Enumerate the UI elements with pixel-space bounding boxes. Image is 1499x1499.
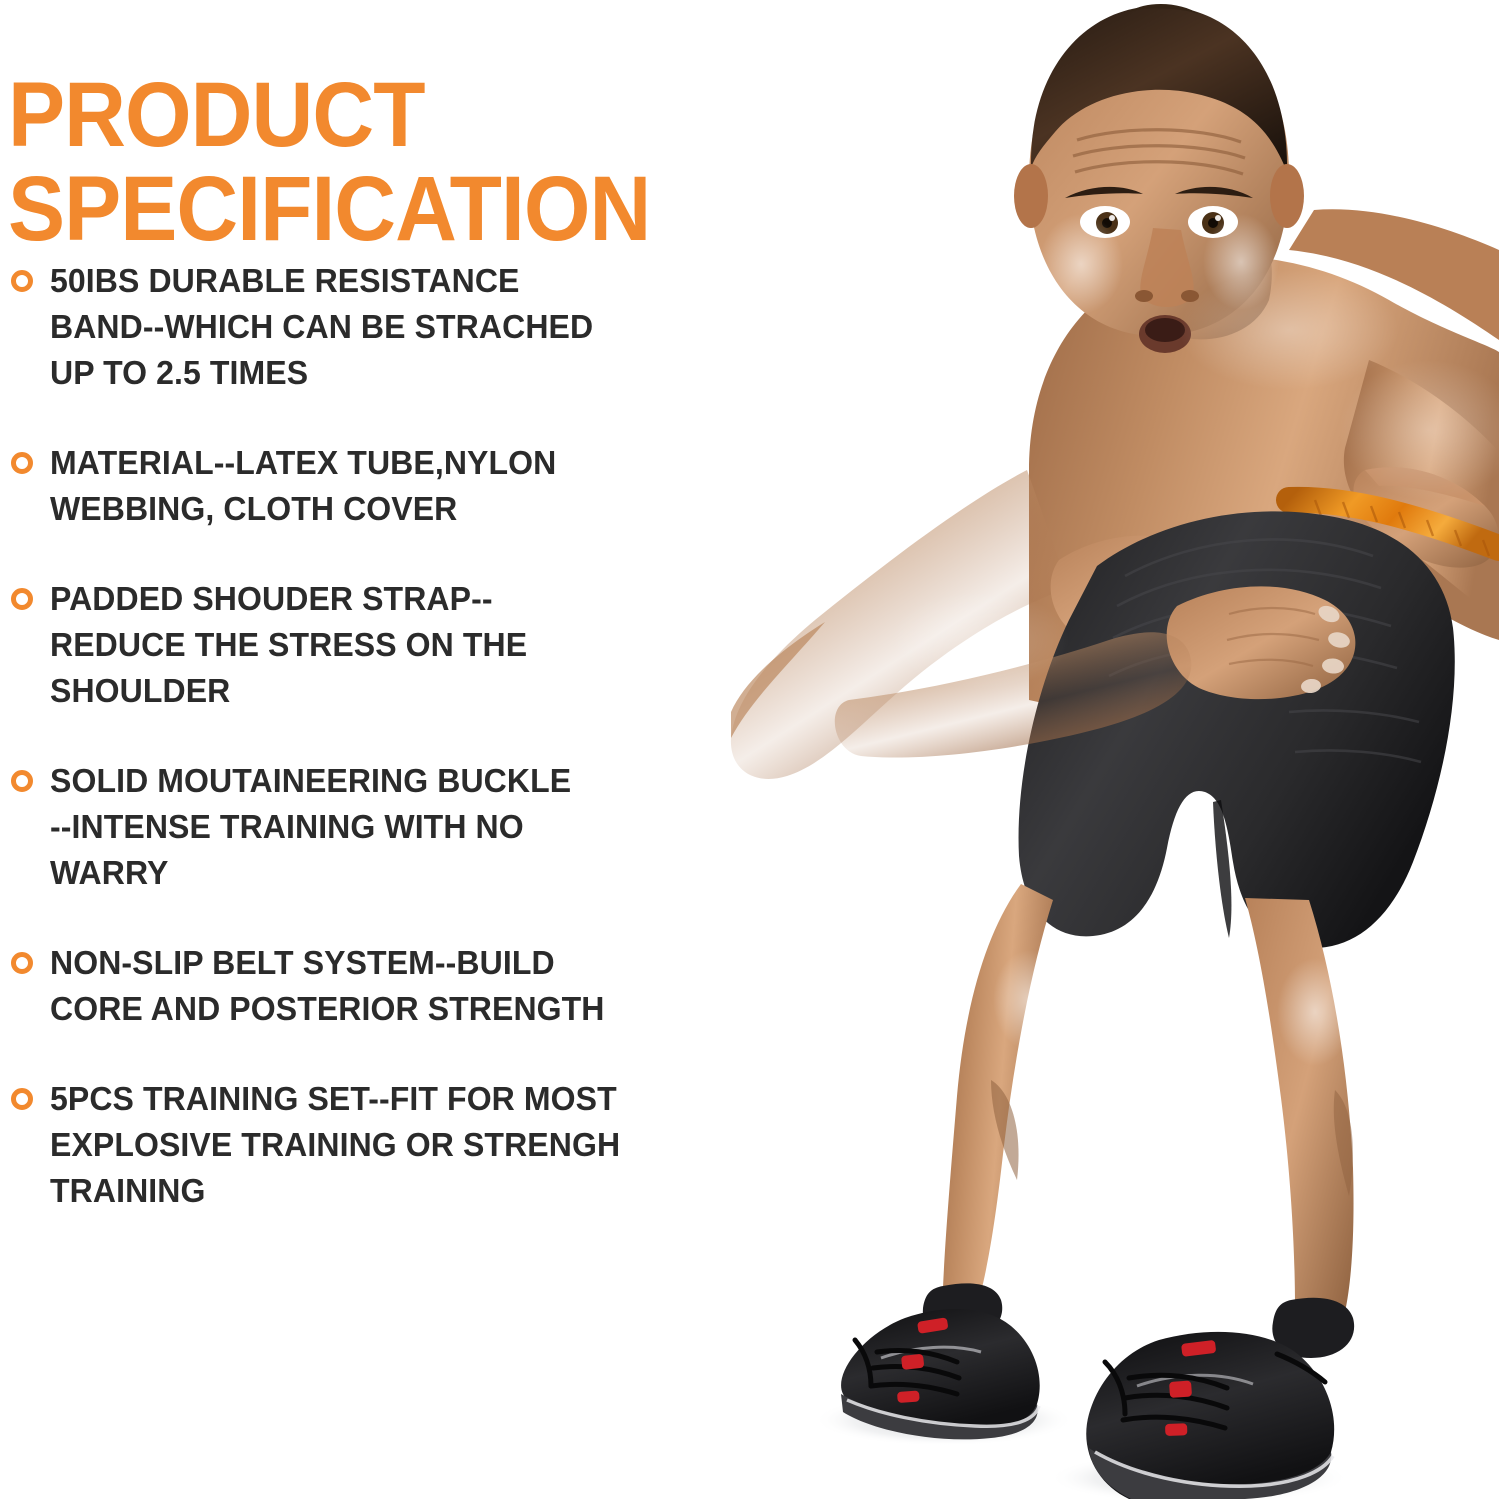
- product-specification-page: PRODUCT SPECIFICATION 50IBS DURABLE RESI…: [0, 0, 1499, 1499]
- spec-item-text: MATERIAL--LATEX TUBE,NYLON WEBBING, CLOT…: [50, 440, 739, 532]
- spec-item-text: SOLID MOUTAINEERING BUCKLE --INTENSE TRA…: [50, 758, 739, 896]
- spec-item-text: PADDED SHOUDER STRAP-- REDUCE THE STRESS…: [50, 576, 739, 714]
- spec-item-text: 5PCS TRAINING SET--FIT FOR MOST EXPLOSIV…: [50, 1076, 739, 1214]
- spec-list-item: SOLID MOUTAINEERING BUCKLE --INTENSE TRA…: [0, 758, 760, 896]
- spec-list-item: MATERIAL--LATEX TUBE,NYLON WEBBING, CLOT…: [0, 440, 760, 532]
- ring-bullet-icon: [11, 452, 33, 474]
- ring-bullet-icon: [11, 1088, 33, 1110]
- spec-list-item: NON-SLIP BELT SYSTEM--BUILD CORE AND POS…: [0, 940, 760, 1032]
- spec-item-text: NON-SLIP BELT SYSTEM--BUILD CORE AND POS…: [50, 940, 739, 1032]
- ring-bullet-icon: [11, 270, 33, 292]
- spec-item-text: 50IBS DURABLE RESISTANCE BAND--WHICH CAN…: [50, 258, 739, 396]
- spec-list-item: 50IBS DURABLE RESISTANCE BAND--WHICH CAN…: [0, 258, 760, 396]
- spec-list-item: 5PCS TRAINING SET--FIT FOR MOST EXPLOSIV…: [0, 1076, 760, 1214]
- spec-list-item: PADDED SHOUDER STRAP-- REDUCE THE STRESS…: [0, 576, 760, 714]
- ring-bullet-icon: [11, 952, 33, 974]
- ring-bullet-icon: [11, 588, 33, 610]
- specification-list: 50IBS DURABLE RESISTANCE BAND--WHICH CAN…: [0, 258, 760, 1258]
- ring-bullet-icon: [11, 770, 33, 792]
- page-title: PRODUCT SPECIFICATION: [8, 68, 826, 256]
- specification-text-panel: PRODUCT SPECIFICATION 50IBS DURABLE RESI…: [0, 0, 760, 1499]
- athlete-photo: [729, 0, 1499, 1499]
